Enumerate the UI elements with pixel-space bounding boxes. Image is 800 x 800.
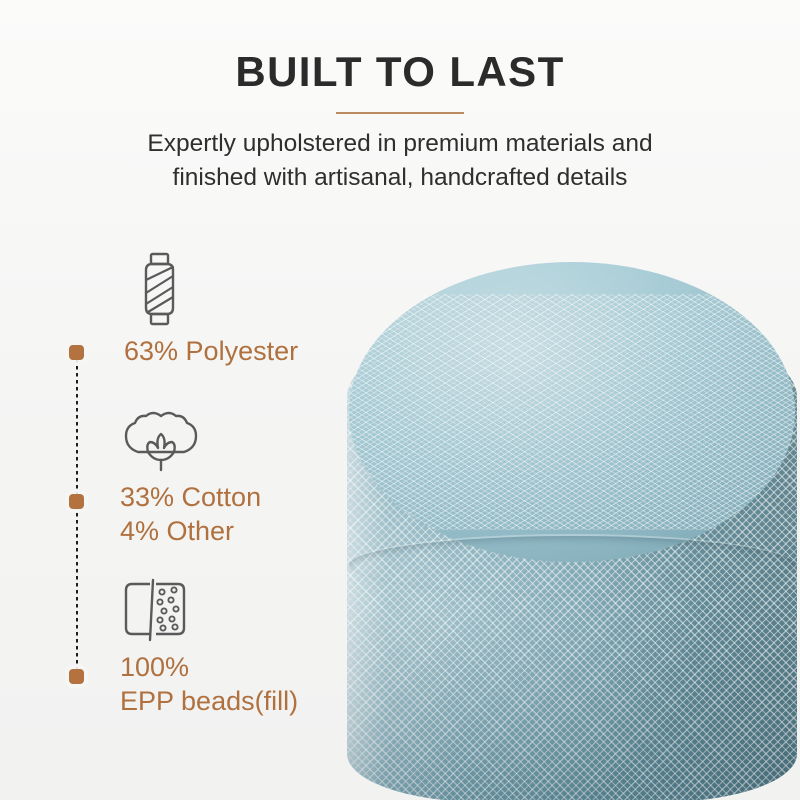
feature-label-epp-beads-line-1: 100% [120, 650, 298, 684]
product-image [335, 262, 800, 800]
pouf-seam [349, 534, 795, 596]
timeline-marker-1 [69, 345, 84, 360]
feature-label-epp-beads: 100% EPP beads(fill) [120, 650, 298, 718]
timeline-marker-2 [69, 494, 84, 509]
page-title: BUILT TO LAST [0, 48, 800, 96]
fabric-weave-pattern-top [349, 294, 795, 530]
feature-label-cotton: 33% Cotton 4% Other [120, 480, 261, 548]
bead-fill-icon [120, 578, 206, 649]
page-subtitle: Expertly upholstered in premium material… [80, 127, 720, 195]
subtitle-line-1: Expertly upholstered in premium material… [80, 127, 720, 161]
pouf-top-surface [349, 262, 795, 562]
feature-label-polyester-line-1: 63% Polyester [124, 334, 298, 368]
feature-label-polyester: 63% Polyester [124, 334, 298, 368]
thread-spool-icon [124, 250, 196, 333]
feature-label-cotton-line-2: 4% Other [120, 514, 261, 548]
feature-label-cotton-line-1: 33% Cotton [120, 480, 261, 514]
subtitle-line-2: finished with artisanal, handcrafted det… [80, 161, 720, 195]
title-divider [336, 112, 464, 114]
product-infographic: BUILT TO LAST Expertly upholstered in pr… [0, 0, 800, 800]
cotton-boll-icon [120, 408, 202, 479]
timeline-marker-3 [69, 669, 84, 684]
feature-label-epp-beads-line-2: EPP beads(fill) [120, 684, 298, 718]
timeline-connector [76, 352, 78, 677]
